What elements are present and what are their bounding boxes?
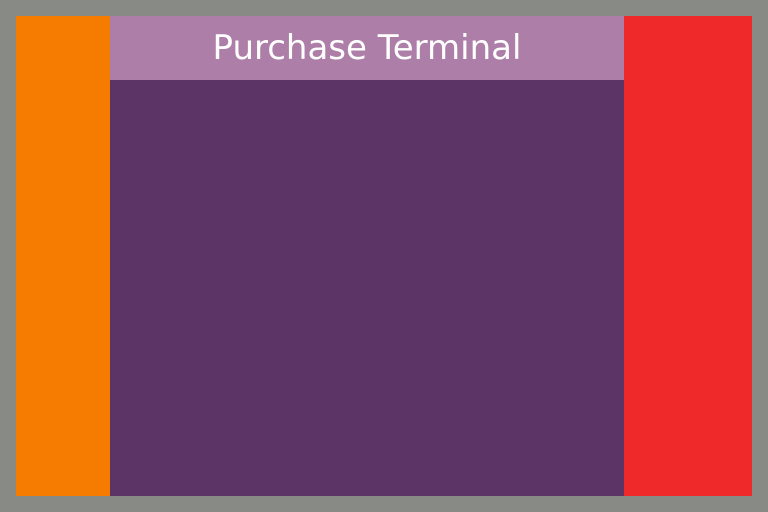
purchase-terminal-window: Purchase Terminal — [110, 16, 624, 496]
left-orange-panel[interactable] — [16, 16, 110, 496]
page-title: Purchase Terminal — [213, 31, 522, 65]
window-title-bar[interactable]: Purchase Terminal — [110, 16, 624, 80]
window-content-area[interactable] — [110, 80, 624, 496]
right-red-panel[interactable] — [624, 16, 752, 496]
app-screen: Purchase Terminal — [0, 0, 768, 512]
